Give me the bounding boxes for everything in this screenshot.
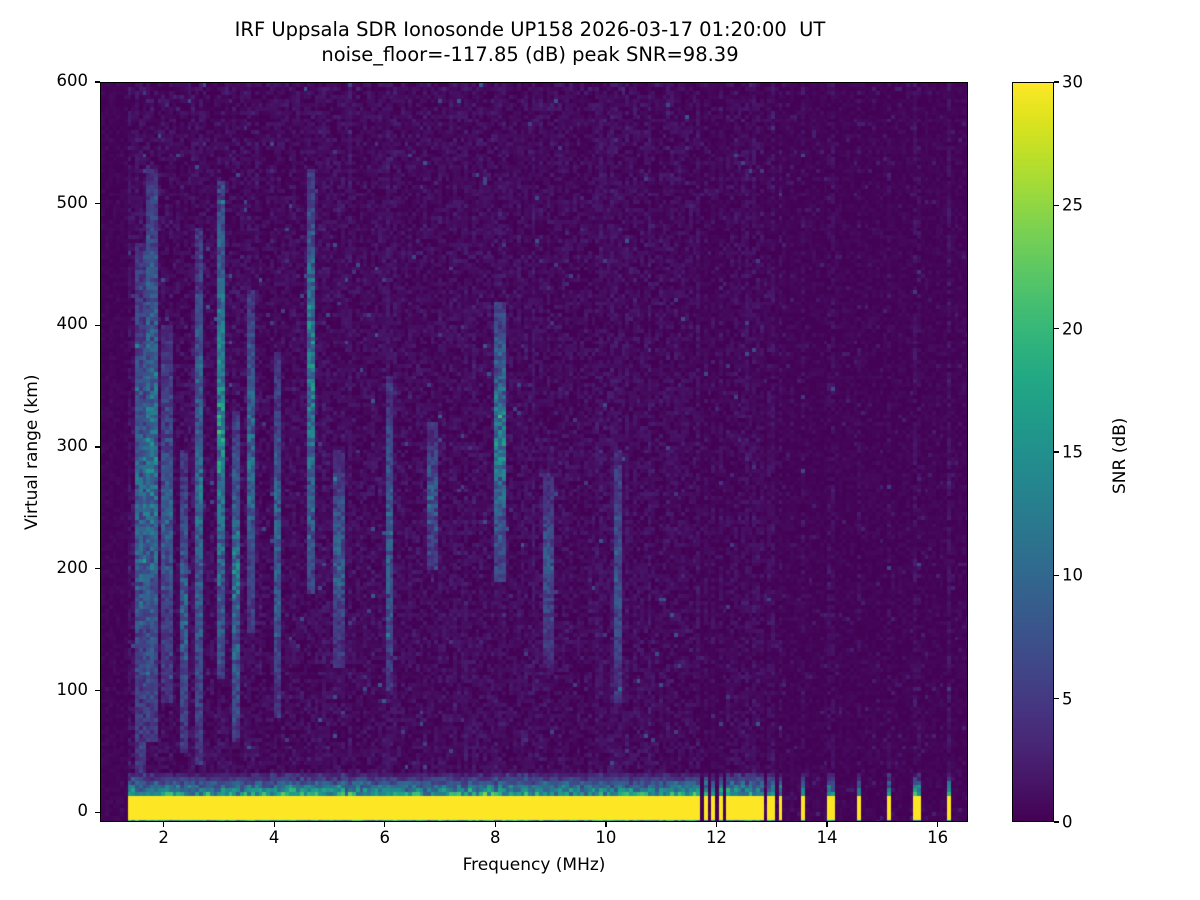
colorbar-tick-label: 20 (1062, 319, 1083, 338)
x-tick-mark (495, 822, 496, 827)
y-tick-label: 300 (8, 436, 88, 455)
colorbar-tick-mark (1054, 575, 1059, 576)
colorbar-tick-mark (1054, 205, 1059, 206)
x-tick-label: 10 (595, 828, 616, 847)
title-line-2: noise_floor=-117.85 (dB) peak SNR=98.39 (0, 43, 1060, 68)
colorbar-tick-label: 0 (1062, 813, 1073, 832)
x-tick-mark (937, 822, 938, 827)
y-tick-mark (95, 81, 100, 82)
figure-title: IRF Uppsala SDR Ionosonde UP158 2026-03-… (0, 18, 1060, 68)
colorbar-tick-mark (1054, 821, 1059, 822)
colorbar-tick-label: 10 (1062, 566, 1083, 585)
x-tick-label: 2 (158, 828, 169, 847)
figure-root: IRF Uppsala SDR Ionosonde UP158 2026-03-… (0, 0, 1200, 900)
y-tick-mark (95, 690, 100, 691)
x-tick-mark (163, 822, 164, 827)
x-tick-mark (716, 822, 717, 827)
colorbar-tick-mark (1054, 328, 1059, 329)
colorbar-tick-label: 5 (1062, 689, 1073, 708)
y-tick-label: 500 (8, 193, 88, 212)
y-tick-label: 0 (8, 801, 88, 820)
x-tick-label: 6 (379, 828, 390, 847)
colorbar-gradient (1013, 83, 1053, 821)
y-tick-label: 400 (8, 314, 88, 333)
x-tick-label: 4 (269, 828, 280, 847)
ionogram-plot-area (100, 82, 968, 822)
colorbar (1012, 82, 1054, 822)
y-tick-mark (95, 812, 100, 813)
colorbar-tick-label: 30 (1062, 73, 1083, 92)
y-tick-label: 200 (8, 558, 88, 577)
colorbar-tick-label: 25 (1062, 196, 1083, 215)
y-tick-label: 100 (8, 680, 88, 699)
x-axis-label: Frequency (MHz) (100, 855, 968, 875)
x-tick-label: 8 (490, 828, 501, 847)
y-tick-mark (95, 203, 100, 204)
ionogram-heatmap (101, 83, 968, 822)
y-tick-label: 600 (8, 71, 88, 90)
x-tick-mark (384, 822, 385, 827)
x-tick-label: 14 (817, 828, 838, 847)
colorbar-tick-mark (1054, 698, 1059, 699)
y-tick-mark (95, 568, 100, 569)
x-tick-mark (274, 822, 275, 827)
y-tick-mark (95, 446, 100, 447)
y-tick-mark (95, 325, 100, 326)
y-axis-label: Virtual range (km) (22, 375, 42, 530)
x-tick-label: 12 (706, 828, 727, 847)
colorbar-tick-mark (1054, 81, 1059, 82)
x-tick-mark (605, 822, 606, 827)
colorbar-tick-label: 15 (1062, 443, 1083, 462)
title-line-1: IRF Uppsala SDR Ionosonde UP158 2026-03-… (0, 18, 1060, 43)
colorbar-label: SNR (dB) (1110, 418, 1130, 494)
colorbar-tick-mark (1054, 451, 1059, 452)
x-tick-label: 16 (927, 828, 948, 847)
x-tick-mark (826, 822, 827, 827)
